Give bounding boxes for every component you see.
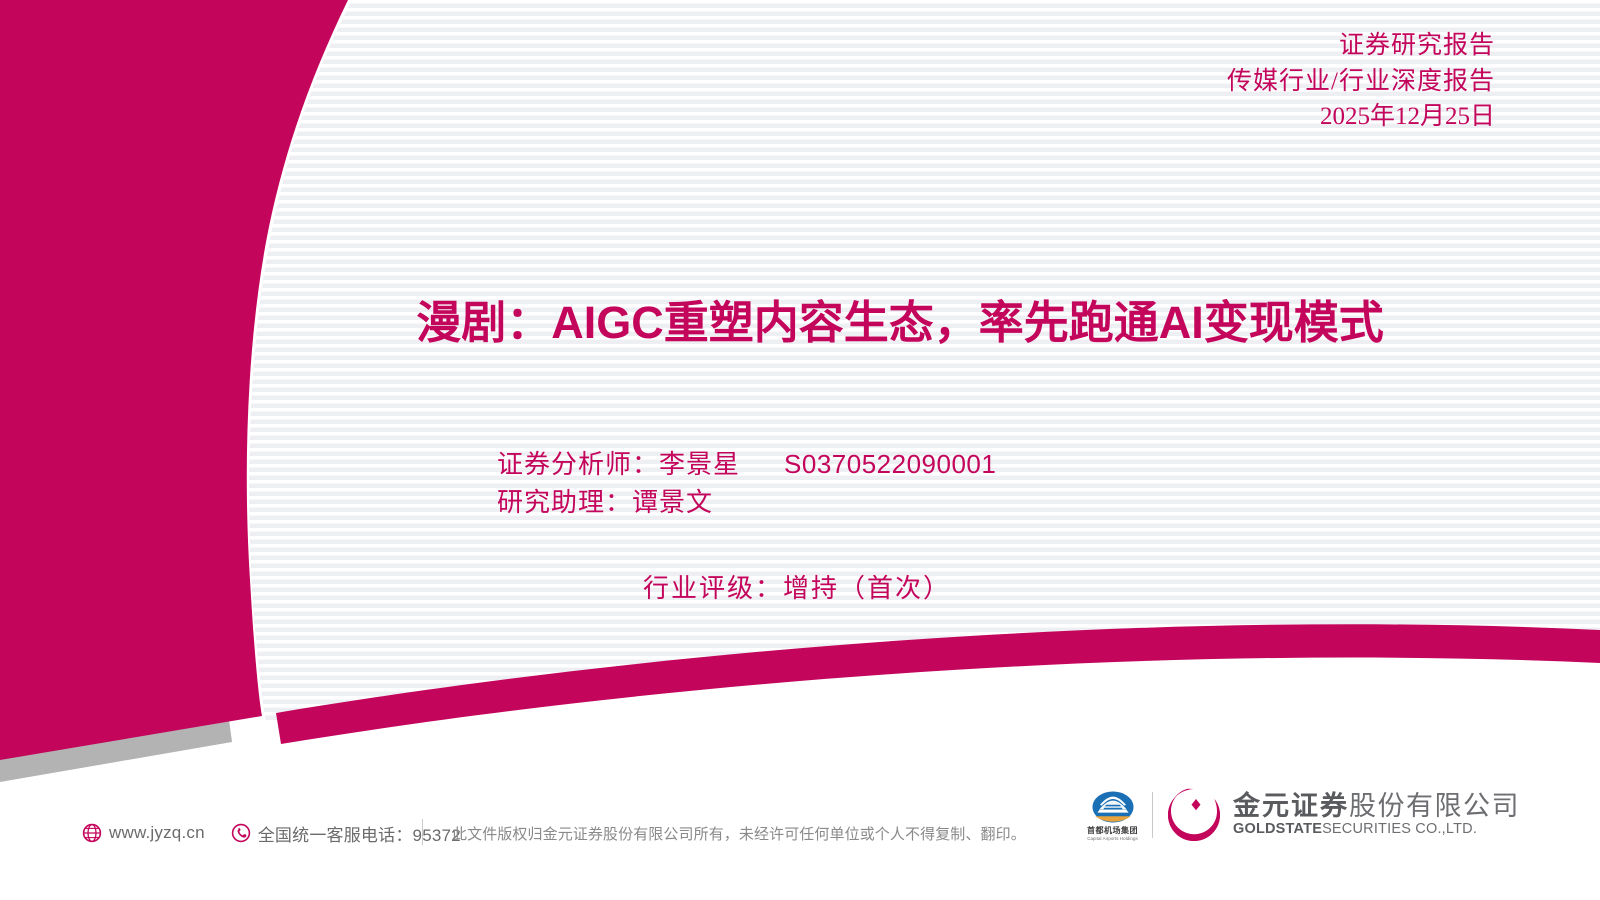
page-title: 漫剧：AIGC重塑内容生态，率先跑通AI变现模式 xyxy=(300,286,1500,351)
footer-logos: 首都机场集团 Capital Airports Holdings 金元证券股份有… xyxy=(1087,782,1520,848)
industry-rating: 行业评级：增持（首次） xyxy=(0,568,1600,605)
phone-icon xyxy=(231,823,251,843)
analyst-name: 证券分析师：李景星 xyxy=(497,450,740,479)
goldstate-name-cn-bold: 金元证券 xyxy=(1233,791,1349,821)
goldstate-name-en: GOLDSTATESECURITIES CO.,LTD. xyxy=(1233,822,1520,838)
assistant-name: 研究助理：谭景文 xyxy=(497,488,713,517)
report-header: 证券研究报告 传媒行业/行业深度报告 2025年12月25日 xyxy=(1227,28,1495,135)
goldstate-mark xyxy=(1166,787,1222,843)
research-assistant-row: 研究助理：谭景文 xyxy=(497,484,996,522)
capital-airports-mark xyxy=(1091,790,1135,824)
footer-divider xyxy=(422,819,423,845)
goldstate-wordmark: 金元证券股份有限公司 GOLDSTATESECURITIES CO.,LTD. xyxy=(1233,792,1520,837)
analyst-row: 证券分析师：李景星S0370522090001 xyxy=(497,446,996,484)
goldstate-name-cn-rest: 股份有限公司 xyxy=(1349,791,1520,821)
goldstate-logo: 金元证券股份有限公司 GOLDSTATESECURITIES CO.,LTD. xyxy=(1166,787,1520,843)
footer-copyright: 此文件版权归金元证券股份有限公司所有，未经许可任何单位或个人不得复制、翻印。 xyxy=(452,823,1026,844)
footer-contact: www.jyzq.cn 全国统一客服电话：95372 xyxy=(82,818,461,848)
analyst-license-code: S0370522090001 xyxy=(784,449,996,479)
capital-airports-name-cn: 首都机场集团 xyxy=(1087,825,1138,836)
footer-hotline: 全国统一客服电话：95372 xyxy=(258,821,461,846)
goldstate-name-cn: 金元证券股份有限公司 xyxy=(1233,792,1520,820)
footer-website[interactable]: www.jyzq.cn xyxy=(109,823,205,843)
header-report-type: 证券研究报告 xyxy=(1227,28,1495,64)
goldstate-name-en-rest: SECURITIES CO.,LTD. xyxy=(1322,821,1477,837)
capital-airports-logo: 首都机场集团 Capital Airports Holdings xyxy=(1087,790,1138,841)
header-industry: 传媒行业/行业深度报告 xyxy=(1227,64,1495,100)
industry-rating-text: 行业评级：增持（首次） xyxy=(643,568,951,605)
report-cover-page: 证券研究报告 传媒行业/行业深度报告 2025年12月25日 漫剧：AIGC重塑… xyxy=(0,0,1600,900)
logo-separator xyxy=(1152,792,1153,838)
goldstate-name-en-bold: GOLDSTATE xyxy=(1233,821,1322,837)
capital-airports-name-en: Capital Airports Holdings xyxy=(1087,836,1138,841)
globe-icon xyxy=(82,823,102,843)
header-date: 2025年12月25日 xyxy=(1227,99,1495,135)
analyst-block: 证券分析师：李景星S0370522090001 研究助理：谭景文 xyxy=(497,446,996,521)
